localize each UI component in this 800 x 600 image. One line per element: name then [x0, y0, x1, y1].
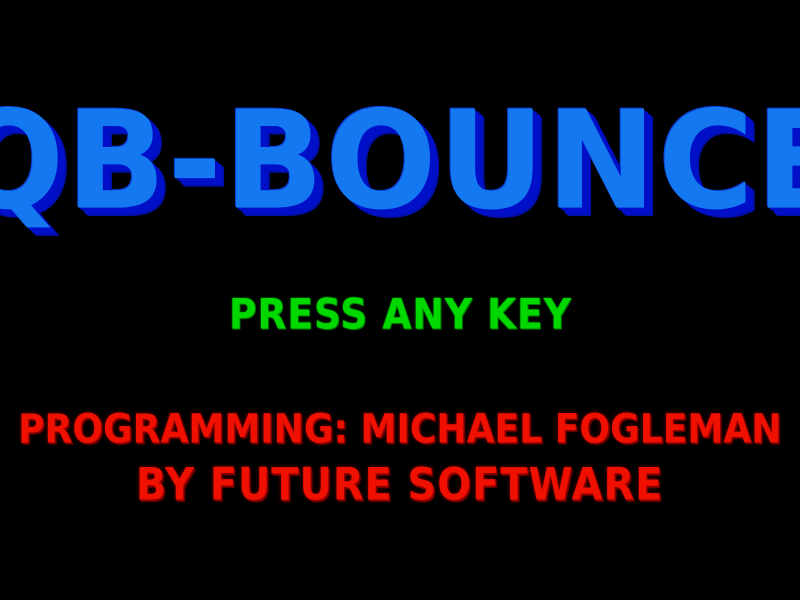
credits-container: PROGRAMMING: MICHAEL FOGLEMAN BY FUTURE …: [0, 410, 800, 506]
credit-line-programming: PROGRAMMING: MICHAEL FOGLEMAN: [18, 409, 781, 449]
press-any-key-prompt[interactable]: PRESS ANY KEY: [229, 294, 572, 336]
game-title-container: QB-BOUNCE: [0, 92, 800, 232]
game-title: QB-BOUNCE: [0, 94, 800, 230]
credit-line-publisher: BY FUTURE SOFTWARE: [136, 463, 663, 507]
game-title-screen[interactable]: QB-BOUNCE PRESS ANY KEY PROGRAMMING: MIC…: [0, 0, 800, 600]
press-any-key-container: PRESS ANY KEY: [0, 292, 800, 338]
